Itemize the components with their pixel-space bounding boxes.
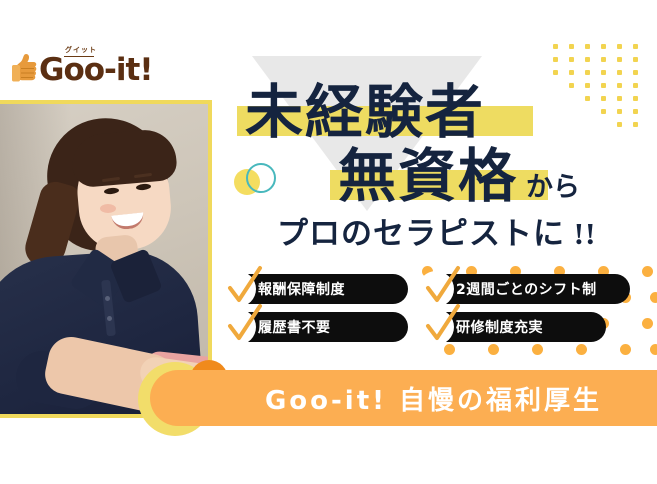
polka-dot: [620, 344, 631, 355]
polka-dot: [532, 344, 543, 355]
brand-logo[interactable]: グイット Goo-it!: [12, 52, 153, 86]
feature-badge: 履歴書不要: [222, 312, 408, 342]
benefits-banner-text: Goo-it! 自慢の福利厚生: [205, 380, 602, 417]
polka-dot: [576, 344, 587, 355]
polka-dot: [488, 344, 499, 355]
recruitment-banner: 未経験者 無資格から プロのセラピストに !! 報酬保障制度2週間ごとのシフト制…: [0, 0, 657, 484]
logo-wordmark: Goo-it!: [39, 54, 153, 86]
check-icon: [224, 266, 264, 308]
headline-text-1: 未経験者: [245, 80, 485, 145]
feature-badge-label: 研修制度充実: [456, 317, 543, 337]
headline-suffix-kara: から: [526, 172, 580, 202]
feature-badge-list: 報酬保障制度2週間ごとのシフト制履歴書不要研修制度充実: [222, 274, 646, 342]
thumbs-up-icon: [12, 52, 38, 86]
headline-line-2: 無資格から: [338, 146, 580, 208]
check-icon: [422, 304, 462, 346]
headline-text-2: 無資格: [338, 144, 518, 209]
feature-badge-label: 履歴書不要: [258, 317, 331, 337]
headline-text-3: プロのセラピストに !!: [277, 216, 596, 251]
headline-line-3: プロのセラピストに !!: [277, 216, 596, 252]
feature-badge: 2週間ごとのシフト制: [420, 274, 630, 304]
photo-shirt-button-top: [105, 296, 110, 301]
photo-shirt-button-bottom: [107, 316, 112, 321]
feature-badge-label: 2週間ごとのシフト制: [456, 279, 597, 299]
check-icon: [224, 304, 264, 346]
logo-kana-text: グイット: [65, 45, 97, 55]
feature-badge: 研修制度充実: [420, 312, 606, 342]
benefits-banner: Goo-it! 自慢の福利厚生: [150, 370, 657, 426]
feature-badge: 報酬保障制度: [222, 274, 408, 304]
check-icon: [422, 266, 462, 308]
feature-badge-label: 報酬保障制度: [258, 279, 345, 299]
polka-dot: [650, 292, 657, 303]
polka-dot: [650, 344, 657, 355]
headline-line-1: 未経験者: [245, 82, 485, 144]
headline-block: 未経験者 無資格から プロのセラピストに !!: [0, 0, 657, 270]
